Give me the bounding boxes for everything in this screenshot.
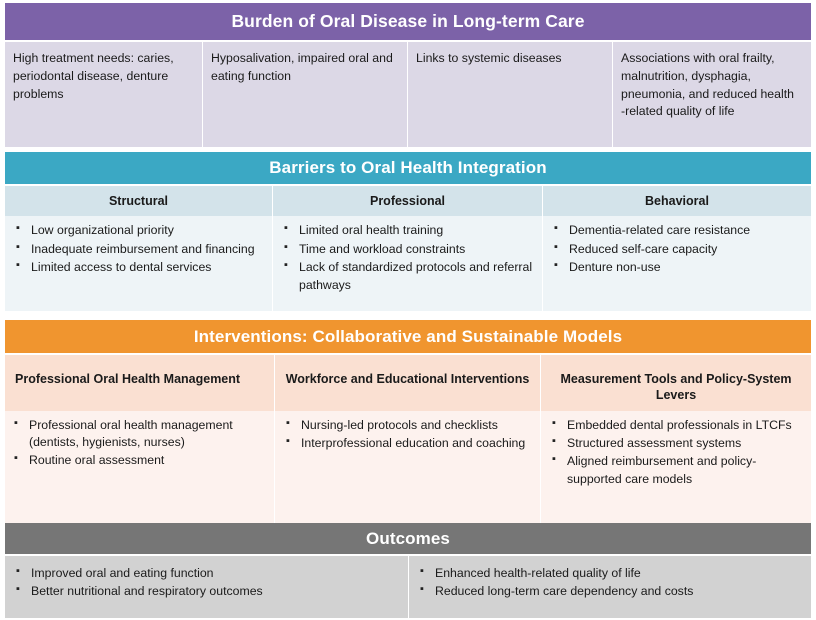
interventions-measurement-list: Embedded dental professionals in LTCFs S… (541, 411, 811, 498)
barriers-subheading-structural-cell: Structural (5, 186, 272, 216)
list-item: Aligned reimbursement and policy-support… (567, 453, 803, 488)
burden-column-2: Hyposalivation, impaired oral and eating… (202, 42, 407, 147)
list-item: Improved oral and eating function (31, 565, 400, 582)
interventions-subheading-workforce-cell: Workforce and Educational Interventions (274, 355, 540, 411)
interventions-subheading-management-cell: Professional Oral Health Management (5, 355, 274, 411)
barriers-body-row: Low organizational priority Inadequate r… (5, 216, 811, 311)
outcomes-body-row: Improved oral and eating function Better… (5, 556, 811, 618)
section-burden-of-oral-disease: Burden of Oral Disease in Long-term Care… (5, 3, 811, 147)
outcomes-list-2: Enhanced health-related quality of life … (409, 556, 811, 610)
burden-section-title: Burden of Oral Disease in Long-term Care (5, 3, 811, 40)
list-item: Lack of standardized protocols and refer… (299, 259, 534, 294)
list-item: Embedded dental professionals in LTCFs (567, 417, 803, 434)
interventions-subheading-measurement: Measurement Tools and Policy-System Leve… (541, 364, 811, 411)
list-item: Reduced long-term care dependency and co… (435, 583, 803, 600)
list-item: Limited oral health training (299, 222, 534, 239)
barriers-subheading-behavioral: Behavioral (543, 186, 811, 216)
section-interventions: Interventions: Collaborative and Sustain… (5, 320, 811, 526)
interventions-workforce-list: Nursing-led protocols and checklists Int… (275, 411, 540, 462)
barriers-professional-list: Limited oral health training Time and wo… (273, 216, 542, 303)
list-item: Reduced self-care capacity (569, 241, 803, 258)
interventions-column-measurement: Embedded dental professionals in LTCFs S… (540, 411, 811, 526)
barriers-subheading-professional-cell: Professional (272, 186, 542, 216)
list-item: Better nutritional and respiratory outco… (31, 583, 400, 600)
interventions-column-workforce: Nursing-led protocols and checklists Int… (274, 411, 540, 526)
outcomes-column-1: Improved oral and eating function Better… (5, 556, 408, 618)
list-item: Enhanced health-related quality of life (435, 565, 803, 582)
list-item: Low organizational priority (31, 222, 264, 239)
burden-column-3: Links to systemic diseases (407, 42, 612, 147)
list-item: Denture non-use (569, 259, 803, 276)
burden-columns: High treatment needs: caries, periodonta… (5, 42, 811, 147)
barriers-subheading-professional: Professional (273, 186, 542, 216)
list-item: Dementia-related care resistance (569, 222, 803, 239)
interventions-subheading-measurement-cell: Measurement Tools and Policy-System Leve… (540, 355, 811, 411)
outcomes-section-title: Outcomes (5, 523, 811, 554)
burden-column-4: Associations with oral frailty, malnutri… (612, 42, 811, 147)
interventions-body-row: Professional oral health management (den… (5, 411, 811, 526)
list-item: Structured assessment systems (567, 435, 803, 452)
interventions-subheading-workforce: Workforce and Educational Interventions (275, 364, 540, 394)
interventions-column-management: Professional oral health management (den… (5, 411, 274, 526)
barriers-behavioral-list: Dementia-related care resistance Reduced… (543, 216, 811, 285)
interventions-subheading-row: Professional Oral Health Management Work… (5, 355, 811, 411)
list-item: Inadequate reimbursement and financing (31, 241, 264, 258)
barriers-column-professional: Limited oral health training Time and wo… (272, 216, 542, 311)
burden-column-1: High treatment needs: caries, periodonta… (5, 42, 202, 147)
section-barriers-to-oral-health-integration: Barriers to Oral Health Integration Stru… (5, 152, 811, 311)
outcomes-list-1: Improved oral and eating function Better… (5, 556, 408, 610)
burden-column-4-text: Associations with oral frailty, malnutri… (621, 50, 801, 121)
list-item: Nursing-led protocols and checklists (301, 417, 532, 434)
barriers-subheading-structural: Structural (5, 186, 272, 216)
barriers-column-behavioral: Dementia-related care resistance Reduced… (542, 216, 811, 311)
barriers-structural-list: Low organizational priority Inadequate r… (5, 216, 272, 285)
list-item: Time and workload constraints (299, 241, 534, 258)
burden-column-2-text: Hyposalivation, impaired oral and eating… (211, 50, 397, 86)
list-item: Routine oral assessment (29, 452, 270, 469)
list-item: Limited access to dental services (31, 259, 264, 276)
interventions-subheading-management: Professional Oral Health Management (5, 364, 274, 394)
interventions-management-list: Professional oral health management (den… (5, 411, 274, 479)
list-item: Professional oral health management (den… (29, 417, 270, 452)
burden-column-3-text: Links to systemic diseases (416, 50, 602, 68)
barriers-section-title: Barriers to Oral Health Integration (5, 152, 811, 184)
diagram-canvas: Burden of Oral Disease in Long-term Care… (0, 0, 816, 620)
outcomes-column-2: Enhanced health-related quality of life … (408, 556, 811, 618)
barriers-subheading-row: Structural Professional Behavioral (5, 186, 811, 216)
barriers-column-structural: Low organizational priority Inadequate r… (5, 216, 272, 311)
section-outcomes: Outcomes Improved oral and eating functi… (5, 523, 811, 618)
interventions-section-title: Interventions: Collaborative and Sustain… (5, 320, 811, 353)
list-item: Interprofessional education and coaching (301, 435, 532, 452)
burden-column-1-text: High treatment needs: caries, periodonta… (13, 50, 192, 103)
barriers-subheading-behavioral-cell: Behavioral (542, 186, 811, 216)
